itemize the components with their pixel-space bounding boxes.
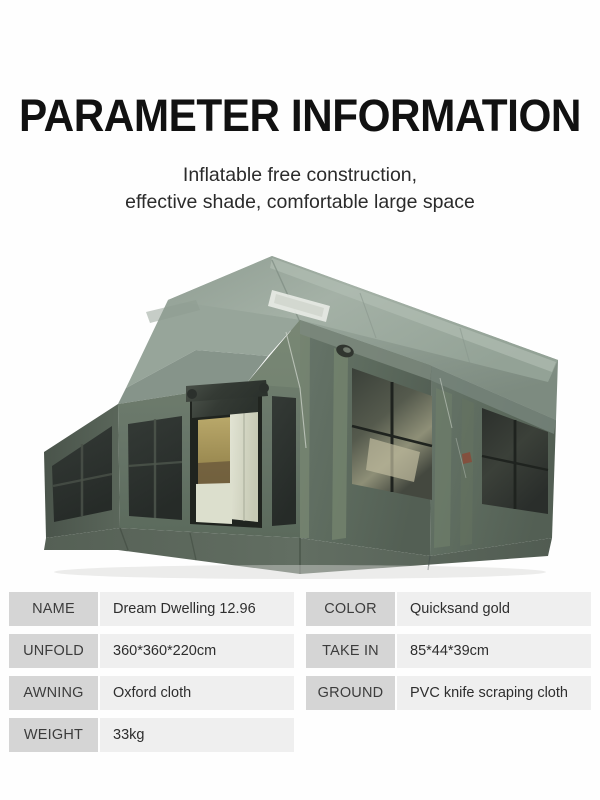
- spec-tables: NAME Dream Dwelling 12.96 UNFOLD 360*360…: [0, 592, 600, 752]
- page-subtitle-line-2: effective shade, comfortable large space: [0, 189, 600, 216]
- tent-illustration: [0, 238, 600, 583]
- spec-label-unfold: UNFOLD: [9, 634, 98, 668]
- air-beam-2: [434, 388, 452, 548]
- corner-air-beam: [300, 320, 310, 538]
- spec-label-ground: GROUND: [306, 676, 395, 710]
- spec-value-take-in: 85*44*39cm: [397, 634, 591, 668]
- spec-row-take-in: TAKE IN 85*44*39cm: [306, 634, 591, 668]
- spec-label-take-in: TAKE IN: [306, 634, 395, 668]
- ground-shadow: [54, 565, 546, 579]
- spec-table-right: COLOR Quicksand gold TAKE IN 85*44*39cm …: [306, 592, 591, 752]
- spec-label-name: NAME: [9, 592, 98, 626]
- interior-tan-band: [198, 461, 232, 486]
- beam-end-cap-left: [187, 389, 197, 399]
- spec-value-weight: 33kg: [100, 718, 294, 752]
- page-title: PARAMETER INFORMATION: [18, 92, 582, 140]
- spec-label-weight: WEIGHT: [9, 718, 98, 752]
- page-subtitle: Inflatable free construction, effective …: [0, 162, 600, 216]
- spec-row-ground: GROUND PVC knife scraping cloth: [306, 676, 591, 710]
- header-block: PARAMETER INFORMATION Inflatable free co…: [0, 0, 600, 216]
- spec-row-name: NAME Dream Dwelling 12.96: [9, 592, 294, 626]
- window-front-right-mesh: [272, 396, 296, 526]
- spec-value-name: Dream Dwelling 12.96: [100, 592, 294, 626]
- spec-label-spacer: [306, 718, 395, 752]
- spec-label-color: COLOR: [306, 592, 395, 626]
- spec-value-spacer: [397, 718, 591, 752]
- air-beam-3: [460, 398, 474, 546]
- spec-value-color: Quicksand gold: [397, 592, 591, 626]
- spec-row-weight: WEIGHT 33kg: [9, 718, 294, 752]
- beam-end-cap-right: [259, 383, 269, 393]
- spec-row-unfold: UNFOLD 360*360*220cm: [9, 634, 294, 668]
- page-subtitle-line-1: Inflatable free construction,: [0, 162, 600, 189]
- product-photo: [0, 238, 600, 583]
- air-beam-1: [332, 348, 348, 540]
- spec-value-unfold: 360*360*220cm: [100, 634, 294, 668]
- interior-lower-panel: [196, 483, 232, 524]
- spec-row-color: COLOR Quicksand gold: [306, 592, 591, 626]
- spec-value-awning: Oxford cloth: [100, 676, 294, 710]
- spec-value-ground: PVC knife scraping cloth: [397, 676, 591, 710]
- spec-label-awning: AWNING: [9, 676, 98, 710]
- spec-row-awning: AWNING Oxford cloth: [9, 676, 294, 710]
- spec-table-left: NAME Dream Dwelling 12.96 UNFOLD 360*360…: [9, 592, 294, 752]
- spec-row-spacer: [306, 718, 591, 752]
